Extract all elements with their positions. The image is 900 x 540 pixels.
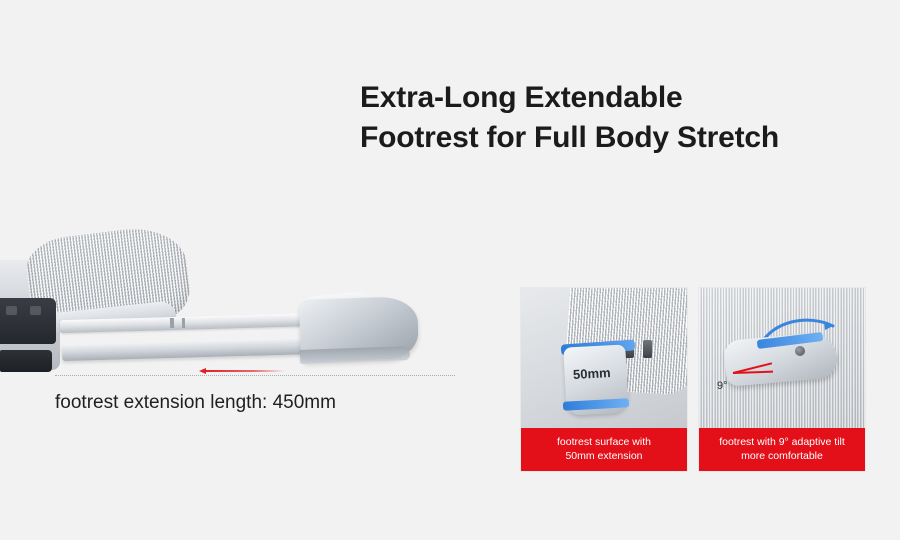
page-title-line-1: Extra-Long Extendable — [360, 78, 880, 118]
measurement-arrow-head — [199, 368, 206, 374]
detail-card-2-caption-line-2: more comfortable — [705, 449, 859, 463]
detail-card-1-caption-line-1: footrest surface with — [527, 435, 681, 449]
tilt-pivot-icon — [795, 346, 805, 356]
measurement-arrow-icon — [205, 368, 285, 374]
footrest-rail-seam-2 — [182, 318, 185, 328]
measurement-dotted-line — [55, 375, 455, 376]
detail-card-adaptive-tilt[interactable]: 9° footrest with 9° adaptive tilt more c… — [699, 288, 865, 471]
detail-card-2-angle-label: 9° — [717, 380, 728, 392]
page-title: Extra-Long Extendable Footrest for Full … — [360, 78, 880, 158]
detail-card-50mm-extension[interactable]: 50mm footrest surface with 50mm extensio… — [521, 288, 687, 471]
footrest-prong-right-icon — [643, 340, 652, 358]
chair-seat-notch-right — [30, 306, 41, 315]
footrest-extension-caption: footrest extension length: 450mm — [55, 392, 336, 414]
page-title-line-2: Footrest for Full Body Stretch — [360, 118, 880, 158]
chair-seat-notch-left — [6, 306, 17, 315]
chair-seat-mechanism — [0, 298, 56, 344]
detail-card-1-caption: footrest surface with 50mm extension — [521, 428, 687, 471]
detail-cards: 50mm footrest surface with 50mm extensio… — [521, 288, 865, 471]
detail-card-1-measure-label: 50mm — [573, 365, 611, 382]
detail-card-2-caption: footrest with 9° adaptive tilt more comf… — [699, 428, 865, 471]
detail-card-2-caption-line-1: footrest with 9° adaptive tilt — [705, 435, 859, 449]
detail-card-1-image: 50mm — [521, 288, 687, 428]
footrest-rail-seam-1 — [170, 318, 174, 328]
detail-card-2-image: 9° — [699, 288, 865, 428]
chair-base-plate — [0, 350, 52, 372]
hero-product-image — [0, 190, 470, 420]
footrest-pad-underside — [300, 346, 410, 364]
measurement-arrow-bar — [205, 370, 285, 372]
detail-card-1-caption-line-2: 50mm extension — [527, 449, 681, 463]
